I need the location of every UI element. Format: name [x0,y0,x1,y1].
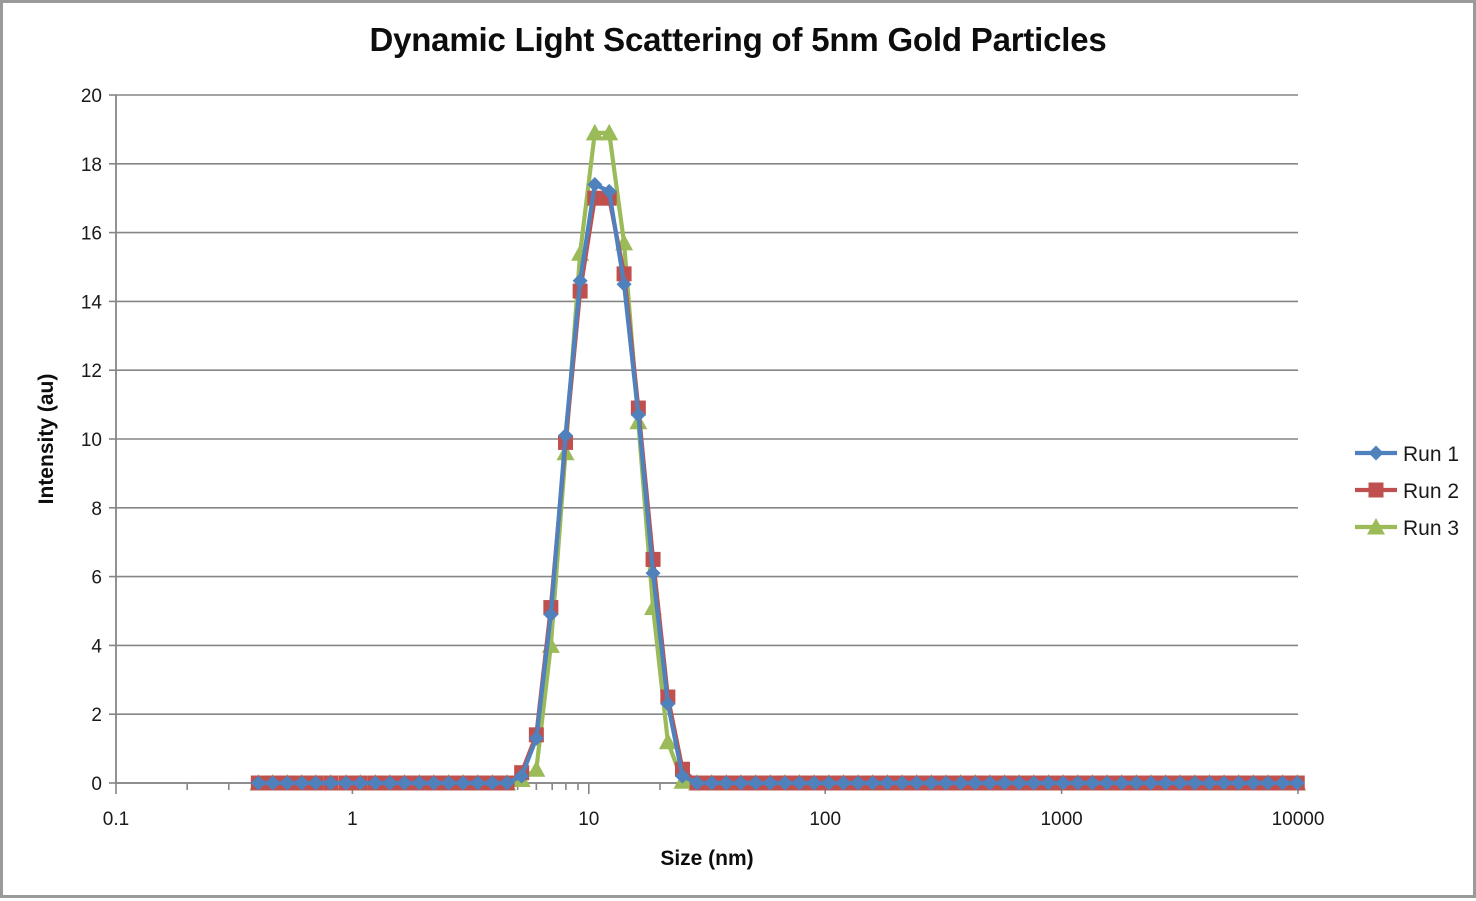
y-tick-label: 10 [81,430,102,451]
x-tick-label: 1000 [1040,809,1082,830]
y-tick-label: 20 [81,86,102,107]
y-tick-label: 0 [91,774,102,795]
series-run3 [249,124,1306,791]
chart-container: Dynamic Light Scattering of 5nm Gold Par… [0,0,1476,898]
legend-item-3[interactable]: Run 3 [1355,517,1459,540]
marker-run3 [527,760,545,777]
y-tick-label: 2 [91,705,102,726]
y-tick-label: 6 [91,568,102,589]
y-tick-label: 4 [91,636,102,657]
series-line-run3 [258,133,1297,783]
x-axis-title: Size (nm) [660,847,753,870]
legend-label-3: Run 3 [1403,517,1459,540]
series-run1 [251,177,1305,791]
series-run2 [251,191,1305,791]
x-tick-label: 0.1 [103,809,129,830]
series-line-run2 [258,198,1297,783]
legend-item-2[interactable]: Run 2 [1355,480,1459,503]
plot-area: 024681012141618200.1110100100010000Size … [3,3,1476,901]
x-tick-label: 1 [347,809,358,830]
legend-label-1: Run 1 [1403,443,1459,466]
y-axis-title: Intensity (au) [35,374,58,505]
x-tick-label: 100 [809,809,841,830]
x-tick-label: 10000 [1272,809,1325,830]
legend-label-2: Run 2 [1403,480,1459,503]
series-line-run1 [258,184,1297,783]
legend-item-1[interactable]: Run 1 [1355,443,1459,466]
y-tick-label: 12 [81,361,102,382]
y-tick-label: 16 [81,224,102,245]
legend-marker-diamond-icon [1369,446,1384,461]
x-tick-label: 10 [578,809,599,830]
legend-marker-square-icon [1369,483,1384,498]
y-tick-label: 14 [81,292,103,313]
y-tick-label: 18 [81,155,102,176]
y-tick-label: 8 [91,499,102,520]
